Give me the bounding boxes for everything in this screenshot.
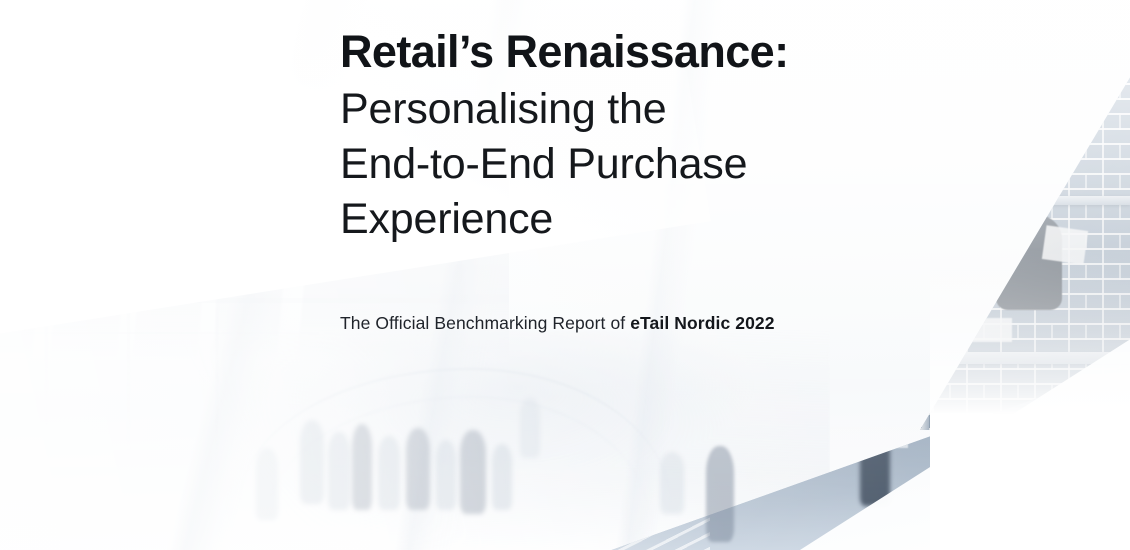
mall-pillar [622, 318, 664, 436]
mall-edge-line [600, 417, 859, 444]
blurred-shopper [256, 448, 278, 520]
blurred-shopper [550, 358, 580, 454]
display-garment [975, 97, 1057, 169]
mall-edge-line [471, 378, 769, 420]
title-line-1: Personalising the [340, 82, 980, 137]
balustrade-rail-1 [0, 258, 429, 261]
blurred-shopper [432, 342, 462, 446]
page-title: Retail’s Renaissance: [340, 28, 980, 76]
atrium-curve-rail-inner [268, 396, 648, 528]
blurred-shopper [300, 420, 324, 504]
title-line-3: Experience [340, 192, 980, 247]
report-cover-page: Retail’s Renaissance: Personalising the … [0, 0, 1130, 550]
blurred-shopper [460, 430, 486, 514]
blurred-shopper [660, 452, 684, 514]
bottom-right-white-fade [930, 250, 1130, 550]
report-attribution-prefix: The Official Benchmarking Report of [340, 313, 630, 333]
blurred-shopper [238, 178, 260, 252]
cover-title-block: Retail’s Renaissance: Personalising the … [340, 28, 980, 247]
blurred-shopper [214, 364, 242, 436]
blurred-shopper [406, 428, 430, 510]
balustrade-rail-2 [0, 298, 475, 303]
blurred-shopper [282, 190, 300, 250]
shop-poster [42, 100, 142, 235]
report-brand-name: eTail Nordic 2022 [630, 313, 774, 333]
blurred-shopper [492, 444, 512, 510]
mall-counter [730, 408, 818, 442]
blurred-shopper [860, 420, 890, 506]
mall-pillar [470, 344, 486, 390]
foreground-shopper [706, 446, 734, 542]
blurred-shopper [520, 398, 540, 458]
blurred-shopper [352, 424, 372, 510]
title-line-2: End-to-End Purchase [340, 137, 980, 192]
blurred-shopper [378, 436, 400, 510]
blurred-shopper [146, 196, 170, 258]
mall-counter [838, 418, 908, 448]
blurred-shopper [436, 440, 456, 510]
report-attribution-line: The Official Benchmarking Report of eTai… [340, 313, 775, 334]
balustrade-rail-3 [0, 332, 339, 334]
mall-edge-line [431, 333, 669, 376]
blurred-shopper [328, 432, 350, 510]
blurred-shopper [578, 330, 604, 420]
